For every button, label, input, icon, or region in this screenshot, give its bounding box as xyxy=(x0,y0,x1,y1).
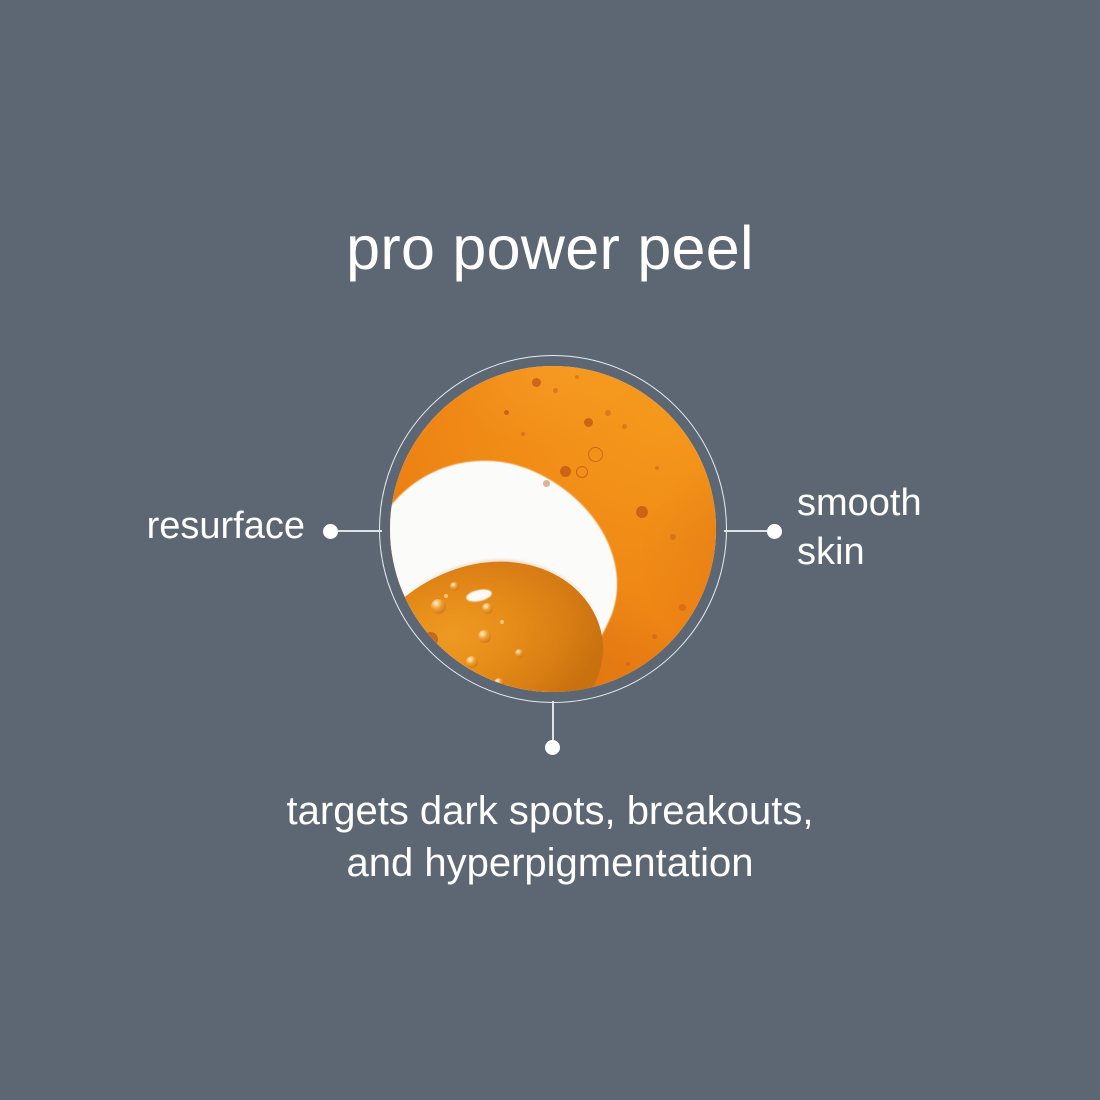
callout-label-right-line2: skin xyxy=(797,528,922,577)
callout-label-right: smooth skin xyxy=(797,479,922,576)
product-infographic: pro power peel xyxy=(0,0,1100,1100)
connector-dot-right xyxy=(767,524,782,539)
connector-line-right xyxy=(724,530,768,532)
circle-outline-ring xyxy=(379,355,727,703)
connector-line-left xyxy=(338,530,382,532)
callout-label-bottom: targets dark spots, breakouts, and hyper… xyxy=(0,786,1100,889)
callout-label-left: resurface xyxy=(147,505,305,548)
connector-dot-left xyxy=(323,524,338,539)
callout-label-bottom-line1: targets dark spots, breakouts, xyxy=(0,786,1100,838)
page-title: pro power peel xyxy=(0,216,1100,281)
product-image-circle xyxy=(379,355,727,703)
callout-label-right-line1: smooth xyxy=(797,479,922,528)
callout-label-bottom-line2: and hyperpigmentation xyxy=(0,838,1100,890)
connector-dot-bottom xyxy=(545,740,560,755)
